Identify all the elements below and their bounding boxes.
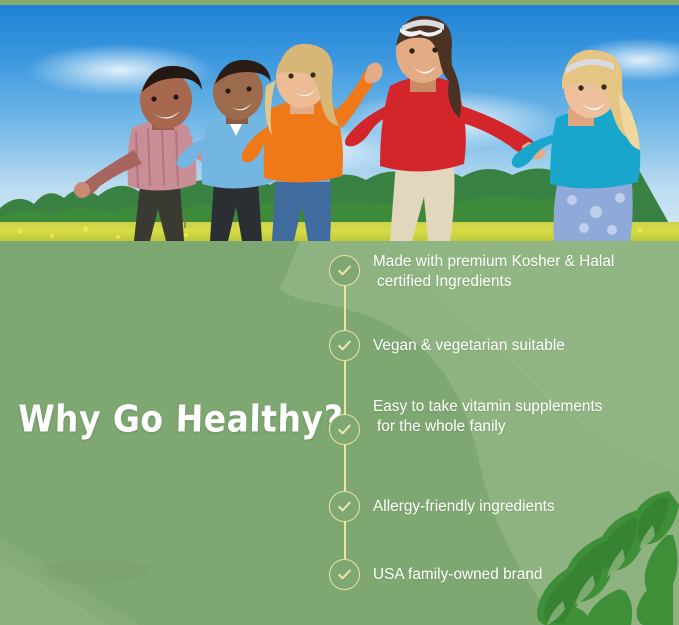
page-title: Why Go Healthy? [18,400,319,437]
benefit-line-2: certified Ingredients [373,272,673,292]
check-circle-icon [329,255,360,286]
hero-photo [0,0,679,241]
why-go-healthy-banner: Why Go Healthy? Made with premium Kosher… [0,0,679,625]
benefit-text: Allergy-friendly ingredients [373,497,673,517]
benefit-text: USA family-owned brand [373,565,673,585]
hero-photo-illustration [0,0,679,241]
benefit-text: Made with premium Kosher & Halal certifi… [373,252,673,292]
benefits-timeline: Made with premium Kosher & Halal certifi… [326,250,679,610]
benefit-line-2: for the whole fanily [373,417,673,437]
benefit-line-1: Made with premium Kosher & Halal [373,253,614,270]
check-circle-icon [329,330,360,361]
benefit-text: Easy to take vitamin supplements for the… [373,397,673,437]
check-circle-icon [329,559,360,590]
benefit-line-1: Vegan & vegetarian suitable [373,337,565,354]
benefit-line-1: USA family-owned brand [373,566,542,583]
top-border-rule [0,0,679,5]
check-circle-icon [329,414,360,445]
benefit-line-1: Allergy-friendly ingredients [373,498,555,515]
check-circle-icon [329,491,360,522]
benefit-text: Vegan & vegetarian suitable [373,336,673,356]
benefit-line-1: Easy to take vitamin supplements [373,398,602,415]
